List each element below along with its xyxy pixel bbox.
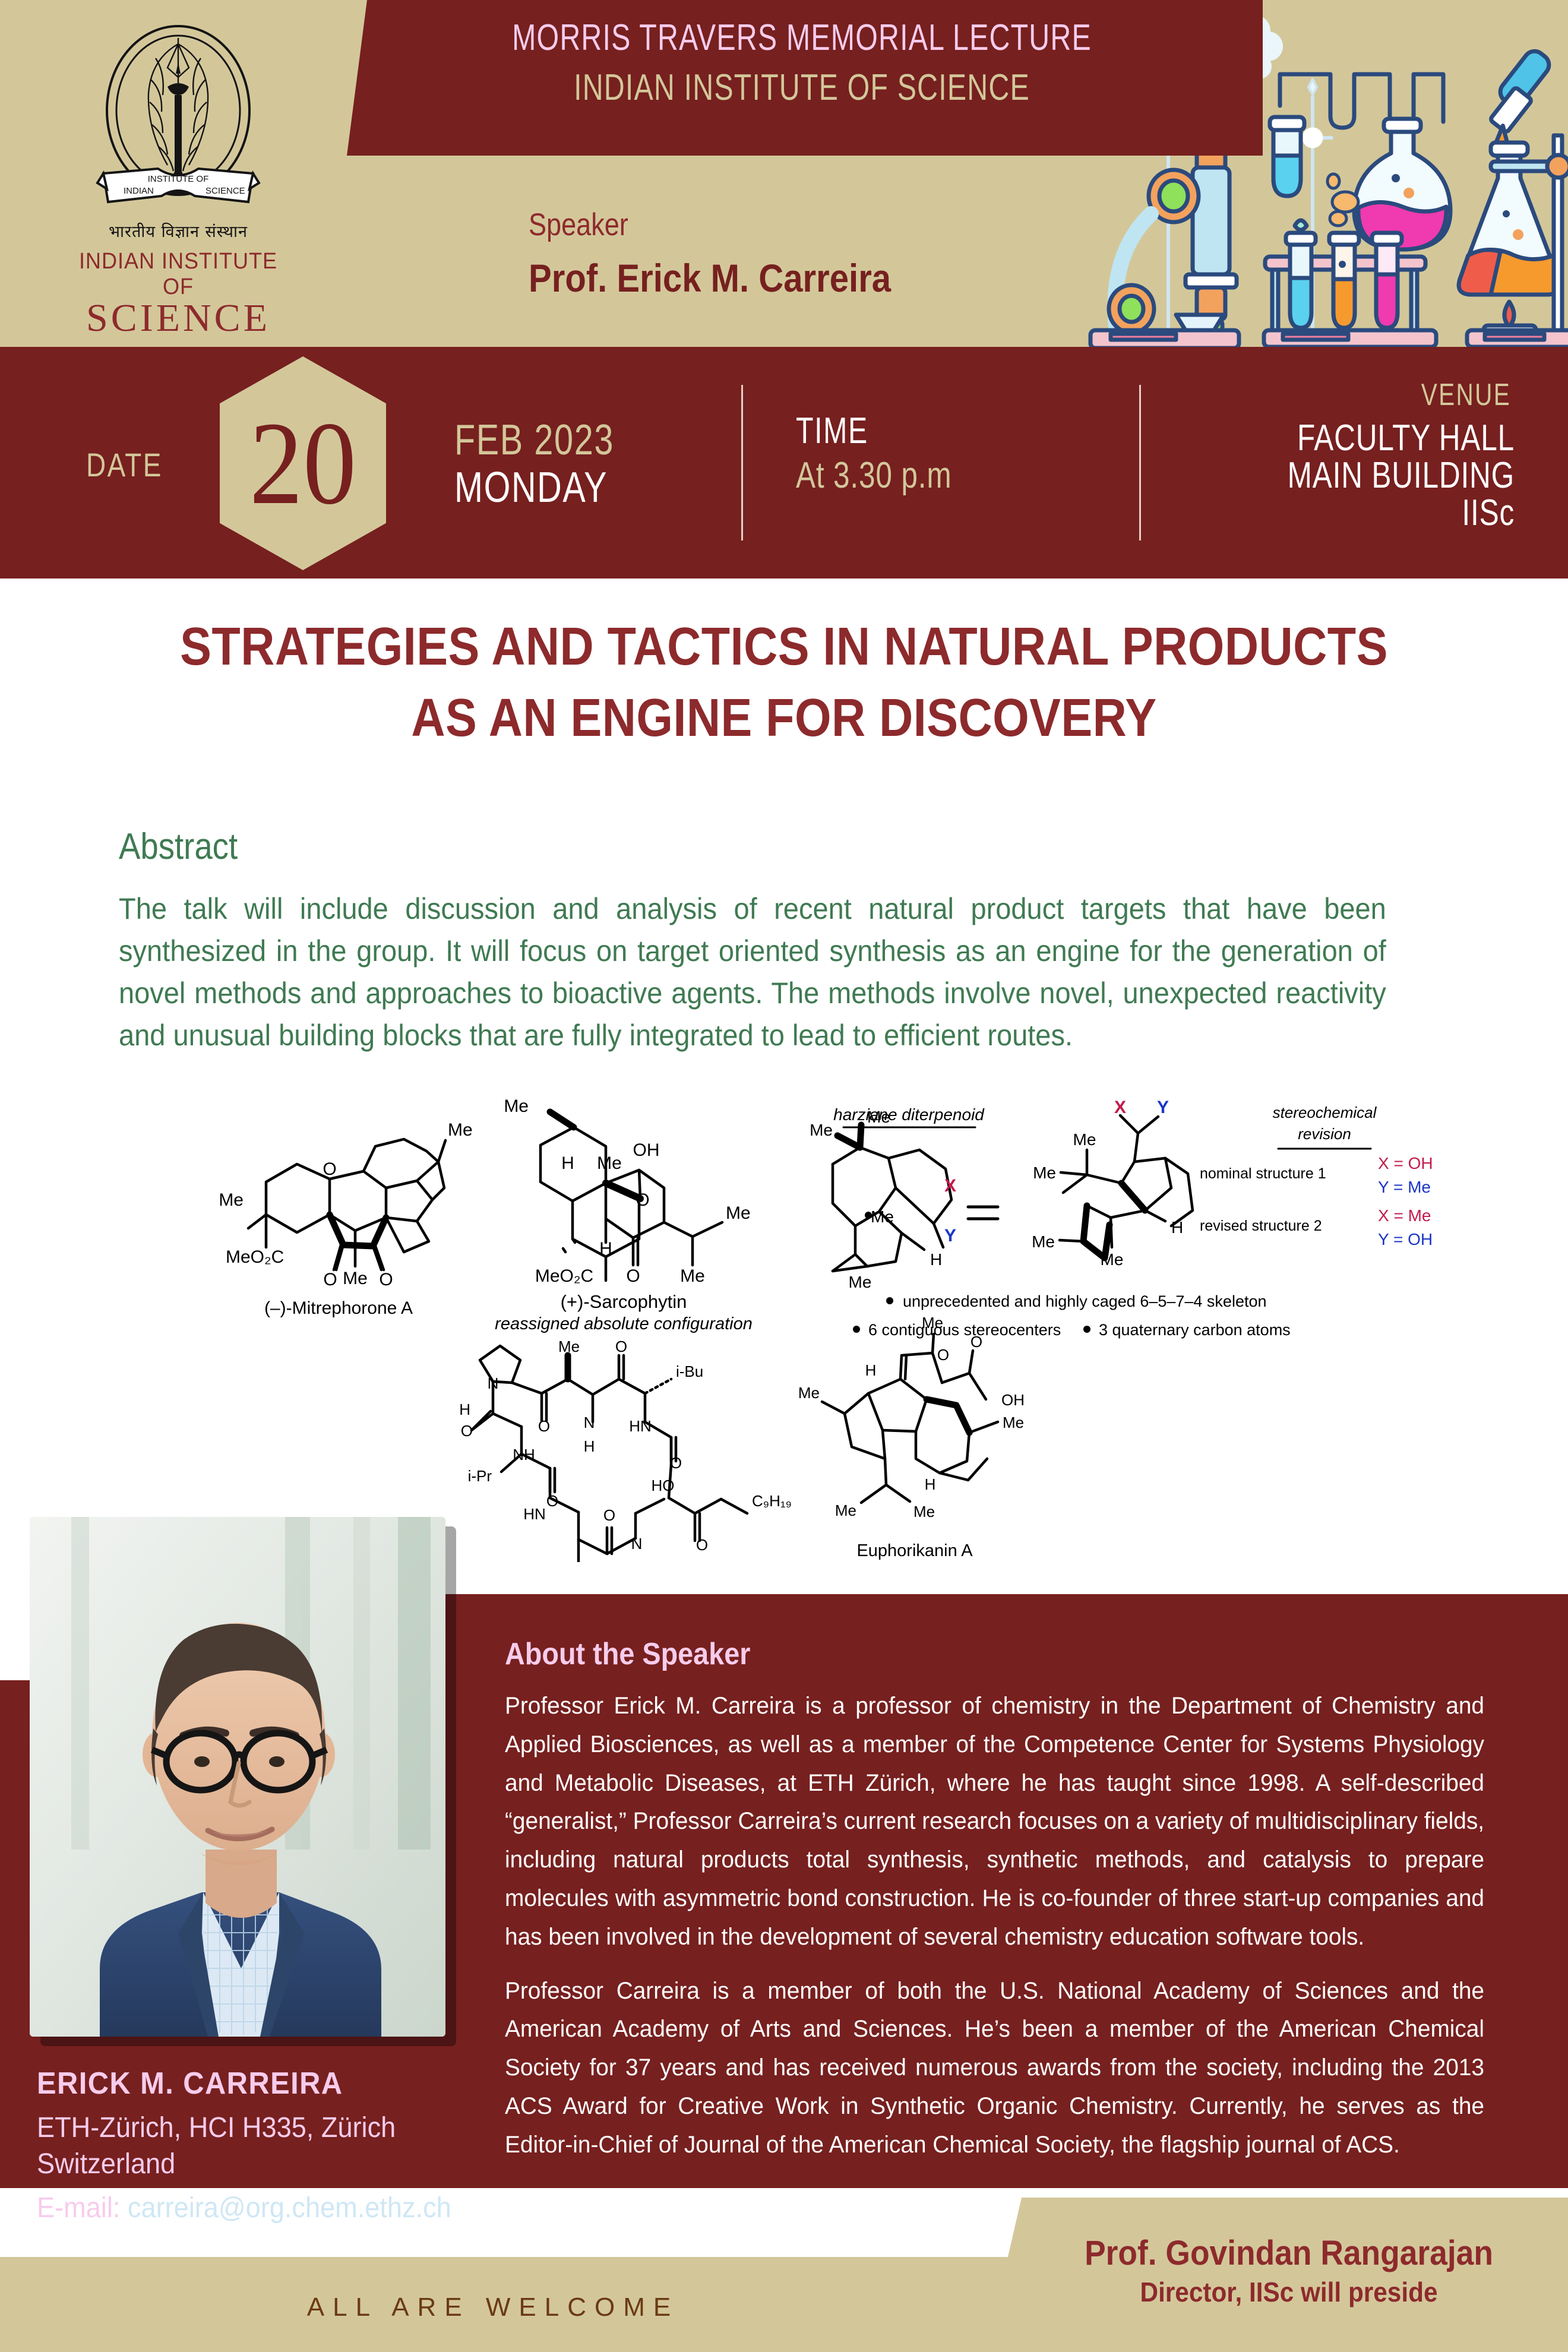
revised-structure-label: revised structure 2 — [1200, 1218, 1322, 1234]
divider-2 — [1139, 385, 1141, 540]
svg-text:H: H — [459, 1401, 470, 1418]
speaker-photo — [30, 1517, 445, 2037]
speaker-label: Speaker — [529, 207, 628, 243]
substituent-x-2: X — [1114, 1098, 1126, 1117]
svg-text:O: O — [538, 1417, 550, 1435]
structure-2-note: reassigned absolute configuration — [495, 1314, 753, 1333]
svg-text:Me: Me — [849, 1273, 872, 1291]
iisc-emblem-icon: INDIAN INSTITUTE OF SCIENCE — [89, 23, 267, 219]
svg-text:NH: NH — [513, 1446, 535, 1463]
venue-line-1: FACULTY HALL — [1288, 419, 1515, 457]
about-speaker-heading: About the Speaker — [505, 1636, 750, 1672]
chemical-structures-figure: Me MeO₂C O Me O Me O (–)-Mitrephorone A — [196, 1093, 1556, 1562]
venue-line-3: IISc — [1288, 494, 1515, 532]
svg-text:N: N — [584, 1414, 595, 1431]
svg-text:O: O — [546, 1492, 558, 1510]
director-name: Prof. Govindan Rangarajan — [1054, 2233, 1523, 2273]
venue-label: VENUE — [1421, 377, 1511, 413]
svg-text:H: H — [599, 1239, 612, 1259]
nominal-structure-label: nominal structure 1 — [1200, 1165, 1326, 1182]
atom-label-o3: O — [379, 1270, 393, 1289]
svg-text:HO: HO — [652, 1477, 675, 1494]
revised-x-value: X = Me — [1378, 1206, 1431, 1225]
svg-text:Me: Me — [913, 1503, 935, 1520]
svg-text:OH: OH — [1001, 1391, 1025, 1409]
logo-line-2: SCIENCE — [59, 300, 297, 337]
abstract-body: The talk will include discussion and ana… — [119, 888, 1386, 1057]
abstract-heading: Abstract — [119, 826, 238, 868]
svg-text:O: O — [670, 1454, 682, 1472]
svg-text:H: H — [925, 1475, 936, 1493]
atom-label-o: O — [323, 1159, 336, 1179]
email-label: E-mail: — [37, 2192, 128, 2224]
svg-text:Me: Me — [798, 1384, 820, 1402]
director-panel — [986, 2198, 1568, 2352]
weekday: MONDAY — [454, 463, 608, 512]
harziane-header: harziane diterpenoid — [833, 1105, 985, 1124]
about-speaker-body: Professor Erick M. Carreira is a profess… — [505, 1687, 1484, 2180]
svg-text:O: O — [626, 1266, 640, 1286]
svg-text:Me: Me — [680, 1266, 705, 1286]
structure-2-name: (+)-Sarcophytin — [561, 1291, 687, 1312]
time-label: TIME — [796, 410, 868, 452]
svg-text:HN: HN — [523, 1505, 546, 1523]
svg-text:Me: Me — [726, 1203, 751, 1223]
atom-label-meo2c: MeO₂C — [226, 1247, 284, 1267]
structure-5-name: Euphorikanin A — [856, 1541, 973, 1560]
substituent-y-1: Y — [944, 1226, 956, 1245]
date-label: DATE — [86, 445, 163, 484]
svg-text:Me: Me — [1003, 1414, 1024, 1431]
svg-text:O: O — [970, 1333, 982, 1351]
talk-title-line-2: AS AN ENGINE FOR DISCOVERY — [172, 683, 1395, 754]
atom-label-me2: Me — [448, 1120, 473, 1140]
svg-text:C₉H₁₉: C₉H₁₉ — [752, 1492, 792, 1510]
ribbon-text-right: SCIENCE — [206, 186, 245, 196]
director-role: Director, IISc will preside — [1054, 2276, 1523, 2308]
talk-title-line-1: STRATEGIES AND TACTICS IN NATURAL PRODUC… — [172, 612, 1395, 683]
affiliation-line-2: Switzerland — [37, 2146, 461, 2182]
all-are-welcome-text: ALL ARE WELCOME — [0, 2293, 986, 2322]
nominal-x-value: X = OH — [1378, 1154, 1433, 1172]
substituent-x-1: X — [944, 1176, 956, 1196]
svg-text:O: O — [461, 1422, 473, 1440]
institution-name: INDIAN INSTITUTE OF SCIENCE — [482, 67, 1121, 109]
svg-text:i-Bu: i-Bu — [676, 1362, 703, 1380]
svg-text:O: O — [615, 1338, 627, 1355]
about-paragraph-1: Professor Erick M. Carreira is a profess… — [505, 1687, 1484, 1956]
chem-bullet-2: 6 contiguous stereocenters — [868, 1321, 1061, 1339]
speaker-name: Prof. Erick M. Carreira — [529, 255, 891, 301]
month-year: FEB 2023 — [454, 416, 614, 464]
svg-text:Me: Me — [871, 1207, 894, 1226]
chem-bullet-3: 3 quaternary carbon atoms — [1099, 1321, 1291, 1339]
ribbon-text-center: INSTITUTE OF — [148, 174, 209, 184]
venue-line-2: MAIN BUILDING — [1288, 457, 1515, 494]
divider-1 — [741, 385, 743, 540]
svg-text:H: H — [1171, 1218, 1183, 1237]
svg-text:H: H — [930, 1250, 942, 1269]
svg-text:H: H — [631, 1558, 643, 1562]
email-address[interactable]: carreira@org.chem.ethz.ch — [128, 2192, 451, 2224]
ribbon-text-left: INDIAN — [124, 186, 154, 196]
venue-address: FACULTY HALL MAIN BUILDING IISc — [1288, 419, 1515, 532]
svg-text:Me: Me — [922, 1314, 943, 1332]
atom-label-me: Me — [219, 1190, 244, 1210]
speaker-contact-name: ERICK M. CARREIRA — [37, 2066, 343, 2101]
lecture-series-title: MORRIS TRAVERS MEMORIAL LECTURE — [482, 17, 1121, 59]
svg-text:Me: Me — [504, 1096, 529, 1116]
svg-text:Me: Me — [810, 1121, 833, 1139]
atom-label-o2: O — [323, 1270, 337, 1289]
atom-label-me3: Me — [343, 1269, 368, 1288]
svg-text:N: N — [488, 1374, 499, 1392]
chem-bullet-1: unprecedented and highly caged 6–5–7–4 s… — [903, 1292, 1267, 1310]
svg-text:N: N — [631, 1535, 643, 1553]
svg-text:HN: HN — [629, 1417, 652, 1435]
svg-text:MeO₂C: MeO₂C — [535, 1266, 593, 1286]
logo-line-1: INDIAN INSTITUTE OF — [65, 249, 291, 300]
revision-header-1: stereochemical — [1273, 1104, 1377, 1121]
nominal-y-value: Y = Me — [1378, 1178, 1431, 1196]
substituent-y-2: Y — [1157, 1098, 1169, 1117]
svg-text:i-Pr: i-Pr — [468, 1467, 492, 1485]
svg-text:Me: Me — [1073, 1130, 1096, 1149]
svg-text:Me: Me — [835, 1501, 856, 1519]
logo-hindi-text: भारतीय विज्ञान संस्थान — [59, 220, 297, 242]
affiliation-line-1: ETH-Zürich, HCI H335, Zürich — [37, 2110, 461, 2146]
about-paragraph-2: Professor Carreira is a member of both t… — [505, 1972, 1484, 2164]
svg-text:OH: OH — [633, 1140, 660, 1160]
svg-text:H: H — [584, 1437, 595, 1455]
poster-root: MORRIS TRAVERS MEMORIAL LECTURE INDIAN I… — [0, 0, 1568, 2352]
revision-header-2: revision — [1298, 1125, 1351, 1143]
speaker-email-row: E-mail: carreira@org.chem.ethz.ch — [37, 2192, 451, 2224]
svg-text:H: H — [561, 1153, 574, 1173]
svg-text:H: H — [865, 1361, 877, 1379]
revised-y-value: Y = OH — [1378, 1230, 1433, 1248]
structure-1-name: (–)-Mitrephorone A — [264, 1298, 413, 1318]
svg-text:O: O — [636, 1190, 649, 1210]
iisc-logo: INDIAN INSTITUTE OF SCIENCE भारतीय विज्ञ… — [59, 23, 297, 331]
svg-text:O: O — [937, 1346, 949, 1364]
svg-text:Me: Me — [1033, 1164, 1056, 1182]
svg-text:O: O — [603, 1506, 615, 1524]
svg-text:Me: Me — [597, 1153, 622, 1173]
talk-title: STRATEGIES AND TACTICS IN NATURAL PRODUC… — [172, 612, 1395, 754]
time-value: At 3.30 p.m — [796, 454, 951, 497]
day-number: 20 — [228, 356, 378, 570]
speaker-affiliation: ETH-Zürich, HCI H335, Zürich Switzerland — [37, 2110, 461, 2183]
svg-text:Me: Me — [1101, 1250, 1124, 1269]
svg-text:Me: Me — [558, 1338, 580, 1355]
svg-text:O: O — [696, 1536, 708, 1554]
svg-text:Me: Me — [1032, 1232, 1055, 1251]
